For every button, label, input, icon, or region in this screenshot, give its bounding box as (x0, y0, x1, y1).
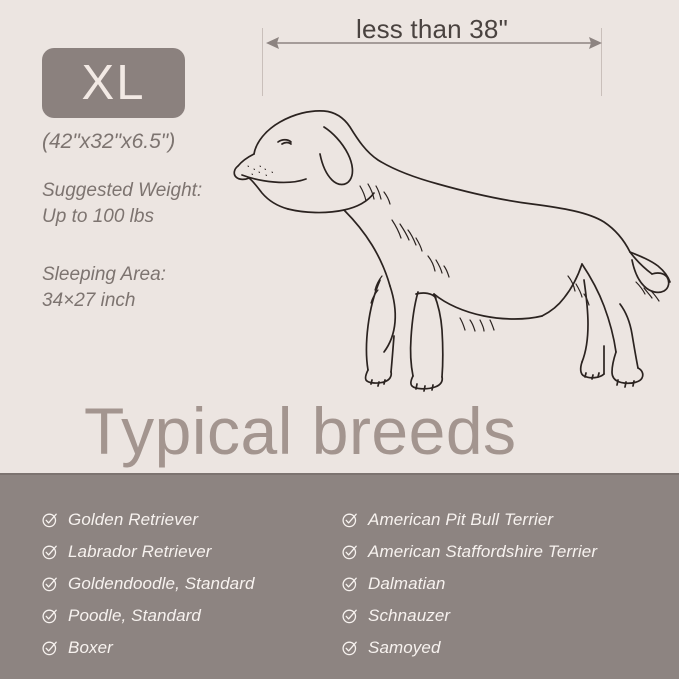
suggested-weight-block: Suggested Weight: Up to 100 lbs (42, 178, 202, 230)
circle-check-icon (42, 640, 58, 656)
list-item: Goldendoodle, Standard (42, 568, 255, 600)
breeds-column-left: Golden Retriever Labrador Retriever Gold… (42, 504, 255, 664)
band-top-divider (0, 473, 679, 475)
dog-bed-size-infographic: less than 38" XL (42"x32"x6.5") Suggeste… (0, 0, 679, 679)
breeds-column-right: American Pit Bull Terrier American Staff… (342, 504, 597, 664)
breed-name: Goldendoodle, Standard (68, 574, 255, 594)
breed-name: American Pit Bull Terrier (368, 510, 553, 530)
sleeping-area-value: 34×27 inch (42, 288, 166, 314)
breeds-band: Golden Retriever Labrador Retriever Gold… (0, 473, 679, 679)
circle-check-icon (342, 512, 358, 528)
breeds-heading: Typical breeds (84, 398, 517, 464)
list-item: Dalmatian (342, 568, 597, 600)
sleeping-area-title: Sleeping Area: (42, 262, 166, 288)
dog-line-art-illustration (232, 80, 679, 392)
circle-check-icon (42, 608, 58, 624)
breed-name: Poodle, Standard (68, 606, 201, 626)
breed-name: Samoyed (368, 638, 441, 658)
breed-name: American Staffordshire Terrier (368, 542, 597, 562)
sleeping-area-block: Sleeping Area: 34×27 inch (42, 262, 166, 314)
breed-name: Golden Retriever (68, 510, 198, 530)
list-item: Samoyed (342, 632, 597, 664)
list-item: Poodle, Standard (42, 600, 255, 632)
list-item: American Pit Bull Terrier (342, 504, 597, 536)
circle-check-icon (42, 512, 58, 528)
suggested-weight-value: Up to 100 lbs (42, 204, 202, 230)
breed-name: Boxer (68, 638, 113, 658)
list-item: Boxer (42, 632, 255, 664)
circle-check-icon (342, 640, 358, 656)
circle-check-icon (42, 576, 58, 592)
circle-check-icon (342, 576, 358, 592)
breed-name: Labrador Retriever (68, 542, 212, 562)
circle-check-icon (42, 544, 58, 560)
list-item: Schnauzer (342, 600, 597, 632)
size-badge-label: XL (82, 59, 146, 108)
double-arrow-horizontal-icon (264, 30, 604, 56)
breed-name: Schnauzer (368, 606, 450, 626)
circle-check-icon (342, 608, 358, 624)
size-badge: XL (42, 48, 185, 118)
breed-name: Dalmatian (368, 574, 445, 594)
list-item: Golden Retriever (42, 504, 255, 536)
bed-dimensions: (42"x32"x6.5") (42, 130, 175, 154)
list-item: American Staffordshire Terrier (342, 536, 597, 568)
suggested-weight-title: Suggested Weight: (42, 178, 202, 204)
list-item: Labrador Retriever (42, 536, 255, 568)
circle-check-icon (342, 544, 358, 560)
